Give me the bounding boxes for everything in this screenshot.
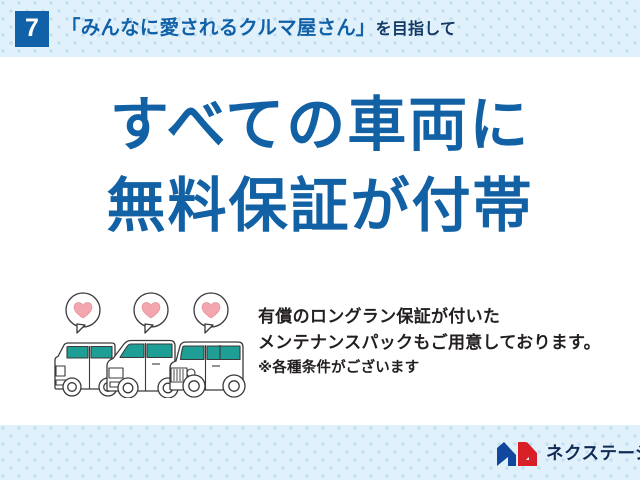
step-number-badge: 7: [15, 11, 49, 47]
brand-name-label: ネクステージ: [546, 445, 640, 463]
headline-line-2: 無料保証が付帯: [0, 177, 640, 236]
header-title: 「みんなに愛されるクルマ屋さん」 を目指して: [61, 19, 456, 39]
header-title-main: 「みんなに愛されるクルマ屋さん」: [61, 19, 376, 39]
promo-banner: 7 「みんなに愛されるクルマ屋さん」 を目指して すべての車両に 無料保証が付帯: [0, 0, 640, 480]
header: 7 「みんなに愛されるクルマ屋さん」 を目指して: [0, 0, 640, 57]
nextage-n-mark-icon: [496, 441, 538, 467]
header-title-suffix: を目指して: [376, 22, 457, 38]
three-cars-with-heart-bubbles-illustration: [52, 288, 252, 398]
body-copy-line-2: メンテナンスパックもご用意しております。: [258, 330, 630, 356]
headline: すべての車両に 無料保証が付帯: [0, 96, 640, 236]
body-copy-line-1: 有償のロングラン保証が付いた: [258, 304, 630, 330]
body-copy: 有償のロングラン保証が付いた メンテナンスパックもご用意しております。 ※各種条…: [258, 304, 630, 379]
headline-line-1: すべての車両に: [0, 96, 640, 155]
brand-logo: ネクステージ: [496, 440, 640, 468]
body-copy-note: ※各種条件がございます: [258, 357, 630, 379]
lower-section: 有償のロングラン保証が付いた メンテナンスパックもご用意しております。 ※各種条…: [0, 288, 640, 408]
